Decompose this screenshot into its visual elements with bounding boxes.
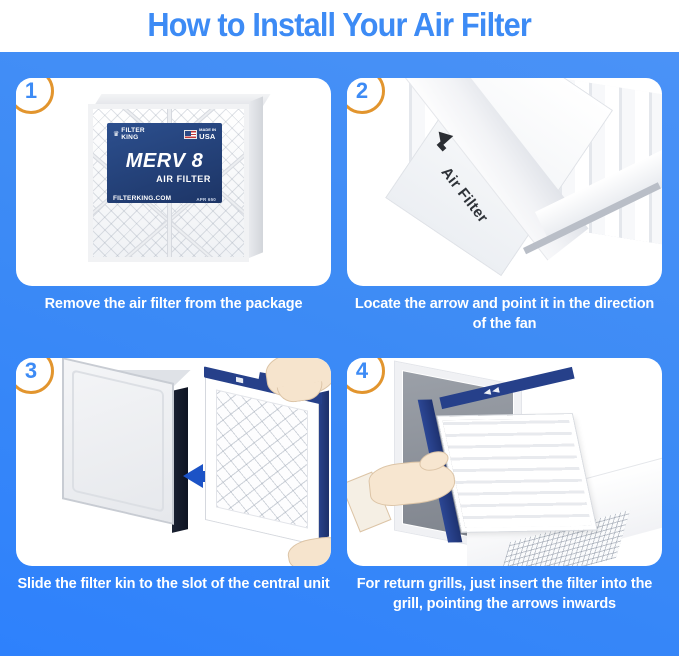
header-bar: How to Install Your Air Filter: [0, 0, 679, 52]
step-caption-3: Slide the filter kin to the slot of the …: [16, 575, 331, 595]
label-footer-row: FILTERKING.COM APR 650: [113, 195, 216, 202]
filter-diamond-mesh: [216, 389, 308, 528]
steps-grid: ♛ FILTER KING: [0, 52, 679, 656]
step-4-image-card: 4: [347, 358, 662, 566]
step-caption-4: For return grills, just insert the filte…: [347, 575, 662, 614]
country-label: USA: [199, 133, 216, 141]
filter-front-face: ♛ FILTER KING: [88, 104, 249, 262]
brand-line-2: KING: [121, 134, 138, 141]
step-1-image-card: ♛ FILTER KING: [16, 78, 331, 286]
product-type-label: AIR FILTER: [113, 174, 216, 184]
made-in-usa-text: MADE IN USA: [199, 128, 216, 141]
filter-side-edge: [249, 96, 263, 258]
sliding-filter-into-central-unit-illustration: [16, 358, 331, 566]
infographic-body: ♛ FILTER KING: [0, 52, 679, 656]
central-unit-panel-outline: [72, 369, 164, 512]
filter-product-label: ♛ FILTER KING: [107, 123, 222, 203]
brand-name: FILTER KING: [121, 128, 144, 142]
merv-rating: MERV 8: [113, 151, 216, 171]
website-url: FILTERKING.COM: [113, 195, 171, 202]
inserting-filter-into-return-grill-illustration: [347, 358, 662, 566]
step-panel-3: 3 Slide the filter kin to the slot of th…: [16, 358, 331, 595]
made-in-usa-badge: MADE IN USA: [184, 128, 216, 141]
step-panel-4: 4 For return grills, just insert the fil…: [347, 358, 662, 614]
step-panel-1: ♛ FILTER KING: [16, 78, 331, 315]
apr-rating: APR 650: [196, 197, 216, 202]
step-caption-2: Locate the arrow and point it in the dir…: [347, 295, 662, 334]
central-unit-slot-opening: [172, 387, 188, 533]
filter-king-logo: ♛ FILTER KING: [113, 128, 145, 142]
filter-box: ♛ FILTER KING: [88, 94, 263, 266]
crown-icon: ♛: [113, 131, 119, 138]
usa-flag-icon: [184, 130, 197, 139]
page-title: How to Install Your Air Filter: [148, 8, 532, 44]
step-panel-2: Air Filter 2 Locate the arrow and point …: [347, 78, 662, 334]
merv-8-air-filter-product-photo: ♛ FILTER KING: [16, 78, 331, 286]
step-caption-1: Remove the air filter from the package: [16, 295, 331, 315]
return-air-grill: [438, 414, 597, 532]
air-filter-corner-with-airflow-arrow: Air Filter: [347, 78, 662, 286]
slide-direction-arrow-icon: [183, 464, 203, 488]
filter-corner-photo: Air Filter: [347, 78, 662, 286]
label-brand-row: ♛ FILTER KING: [113, 128, 216, 142]
step-3-image-card: 3: [16, 358, 331, 566]
step-2-image-card: Air Filter 2: [347, 78, 662, 286]
